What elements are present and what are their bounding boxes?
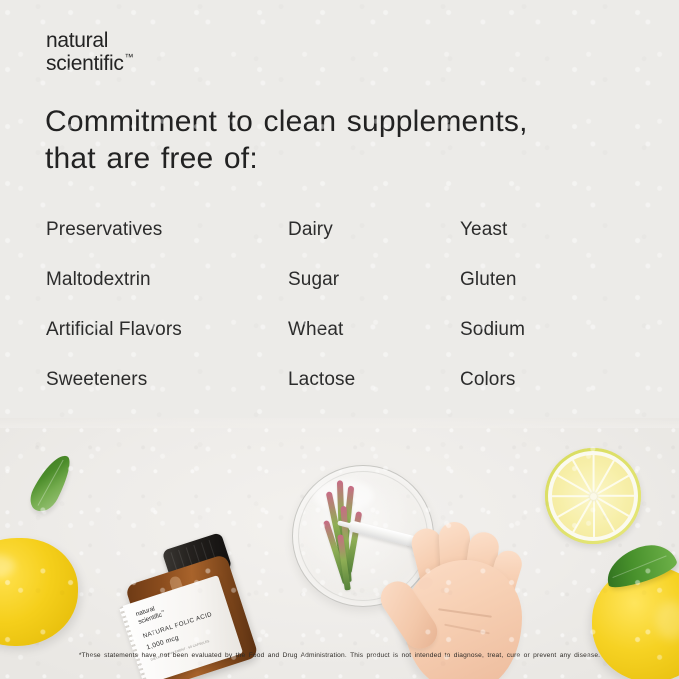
ad-creative-canvas: natural scientific™ NATURAL FOLIC ACID 1… <box>0 0 679 679</box>
free-of-item: Dairy <box>288 220 460 239</box>
free-of-item: Wheat <box>288 320 460 339</box>
free-of-item: Lactose <box>288 370 460 389</box>
fda-disclaimer: *These statements have not been evaluate… <box>0 652 679 659</box>
headline-line-1: Commitment to clean supplements, <box>45 104 645 141</box>
headline-line-2: that are free of: <box>45 141 645 178</box>
trademark-icon: ™ <box>125 52 134 62</box>
lemon-slice-icon <box>545 448 641 544</box>
brand-logo-line1: natural <box>46 30 133 53</box>
free-of-item: Colors <box>460 370 636 389</box>
bottle-brand: natural scientific™ <box>135 603 167 626</box>
free-of-item: Sweeteners <box>46 370 288 389</box>
free-of-item: Preservatives <box>46 220 288 239</box>
free-of-item: Maltodextrin <box>46 270 288 289</box>
free-of-item: Gluten <box>460 270 636 289</box>
brand-logo-line2: scientific <box>46 52 124 75</box>
page-title: Commitment to clean supplements, that ar… <box>45 104 645 177</box>
free-of-item: Sugar <box>288 270 460 289</box>
free-of-item: Yeast <box>460 220 636 239</box>
brand-logo: natural scientific™ <box>46 30 133 75</box>
free-of-item: Sodium <box>460 320 636 339</box>
free-of-list: Preservatives Dairy Yeast Maltodextrin S… <box>46 220 636 420</box>
lemon-core <box>590 493 597 500</box>
bottle-trademark-icon: ™ <box>160 610 165 615</box>
free-of-item: Artificial Flavors <box>46 320 288 339</box>
product-photo-area: natural scientific™ NATURAL FOLIC ACID 1… <box>0 418 679 679</box>
